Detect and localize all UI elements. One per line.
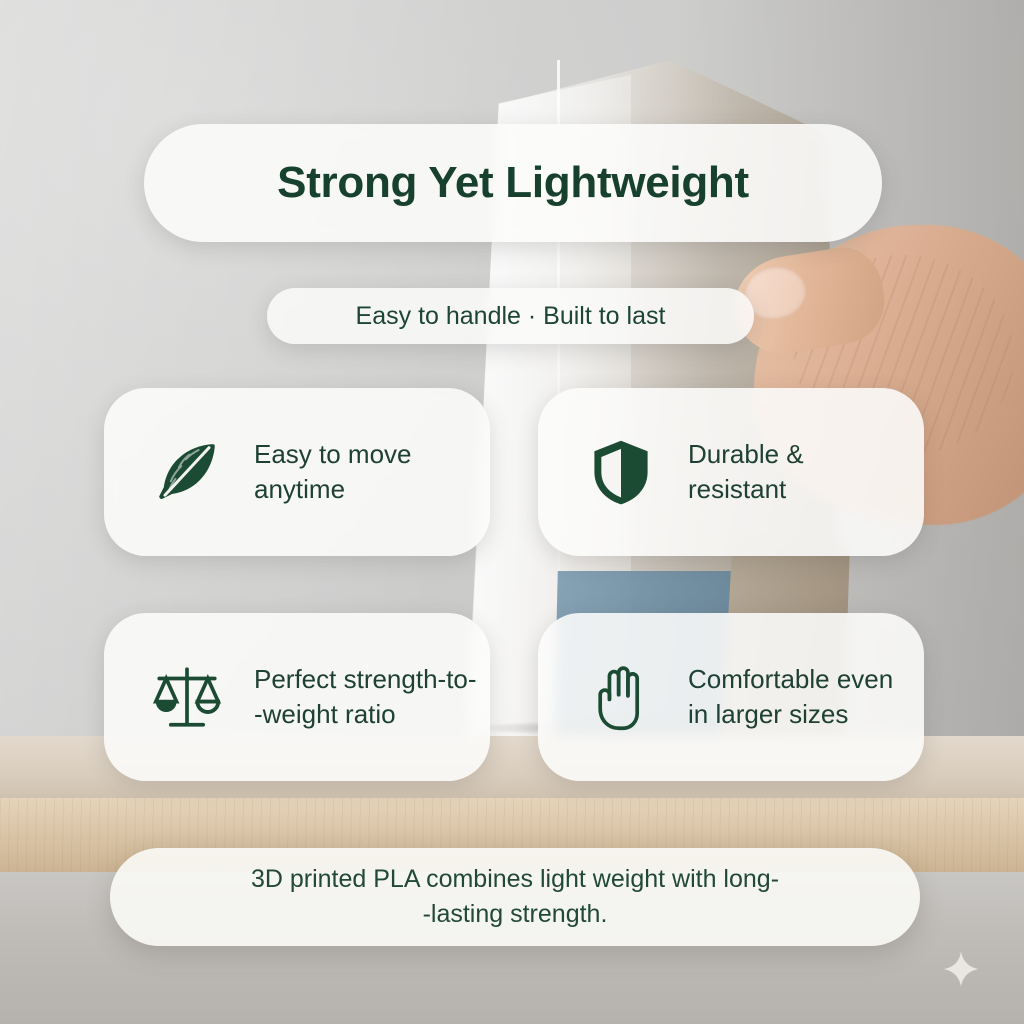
feature-card-comfortable[interactable]: Comfortable even in larger sizes (538, 613, 924, 781)
feature-card-strength-weight[interactable]: Perfect strength-to- -weight ratio (104, 613, 490, 781)
feature-label: Perfect strength-to- -weight ratio (254, 662, 477, 732)
caption-bar: 3D printed PLA combines light weight wit… (110, 848, 920, 946)
feature-card-easy-to-move[interactable]: Easy to move anytime (104, 388, 490, 556)
shield-icon (584, 435, 658, 509)
hand-icon (584, 660, 658, 734)
feature-label: Easy to move anytime (254, 437, 412, 507)
sparkle-icon (942, 950, 980, 988)
caption-text: 3D printed PLA combines light weight wit… (251, 862, 779, 933)
scales-icon (150, 660, 224, 734)
feature-card-durable[interactable]: Durable & resistant (538, 388, 924, 556)
feather-icon (150, 435, 224, 509)
feature-label: Comfortable even in larger sizes (688, 662, 893, 732)
info-overlay: Strong Yet Lightweight Easy to handle · … (0, 0, 1024, 1024)
feature-label: Durable & resistant (688, 437, 804, 507)
